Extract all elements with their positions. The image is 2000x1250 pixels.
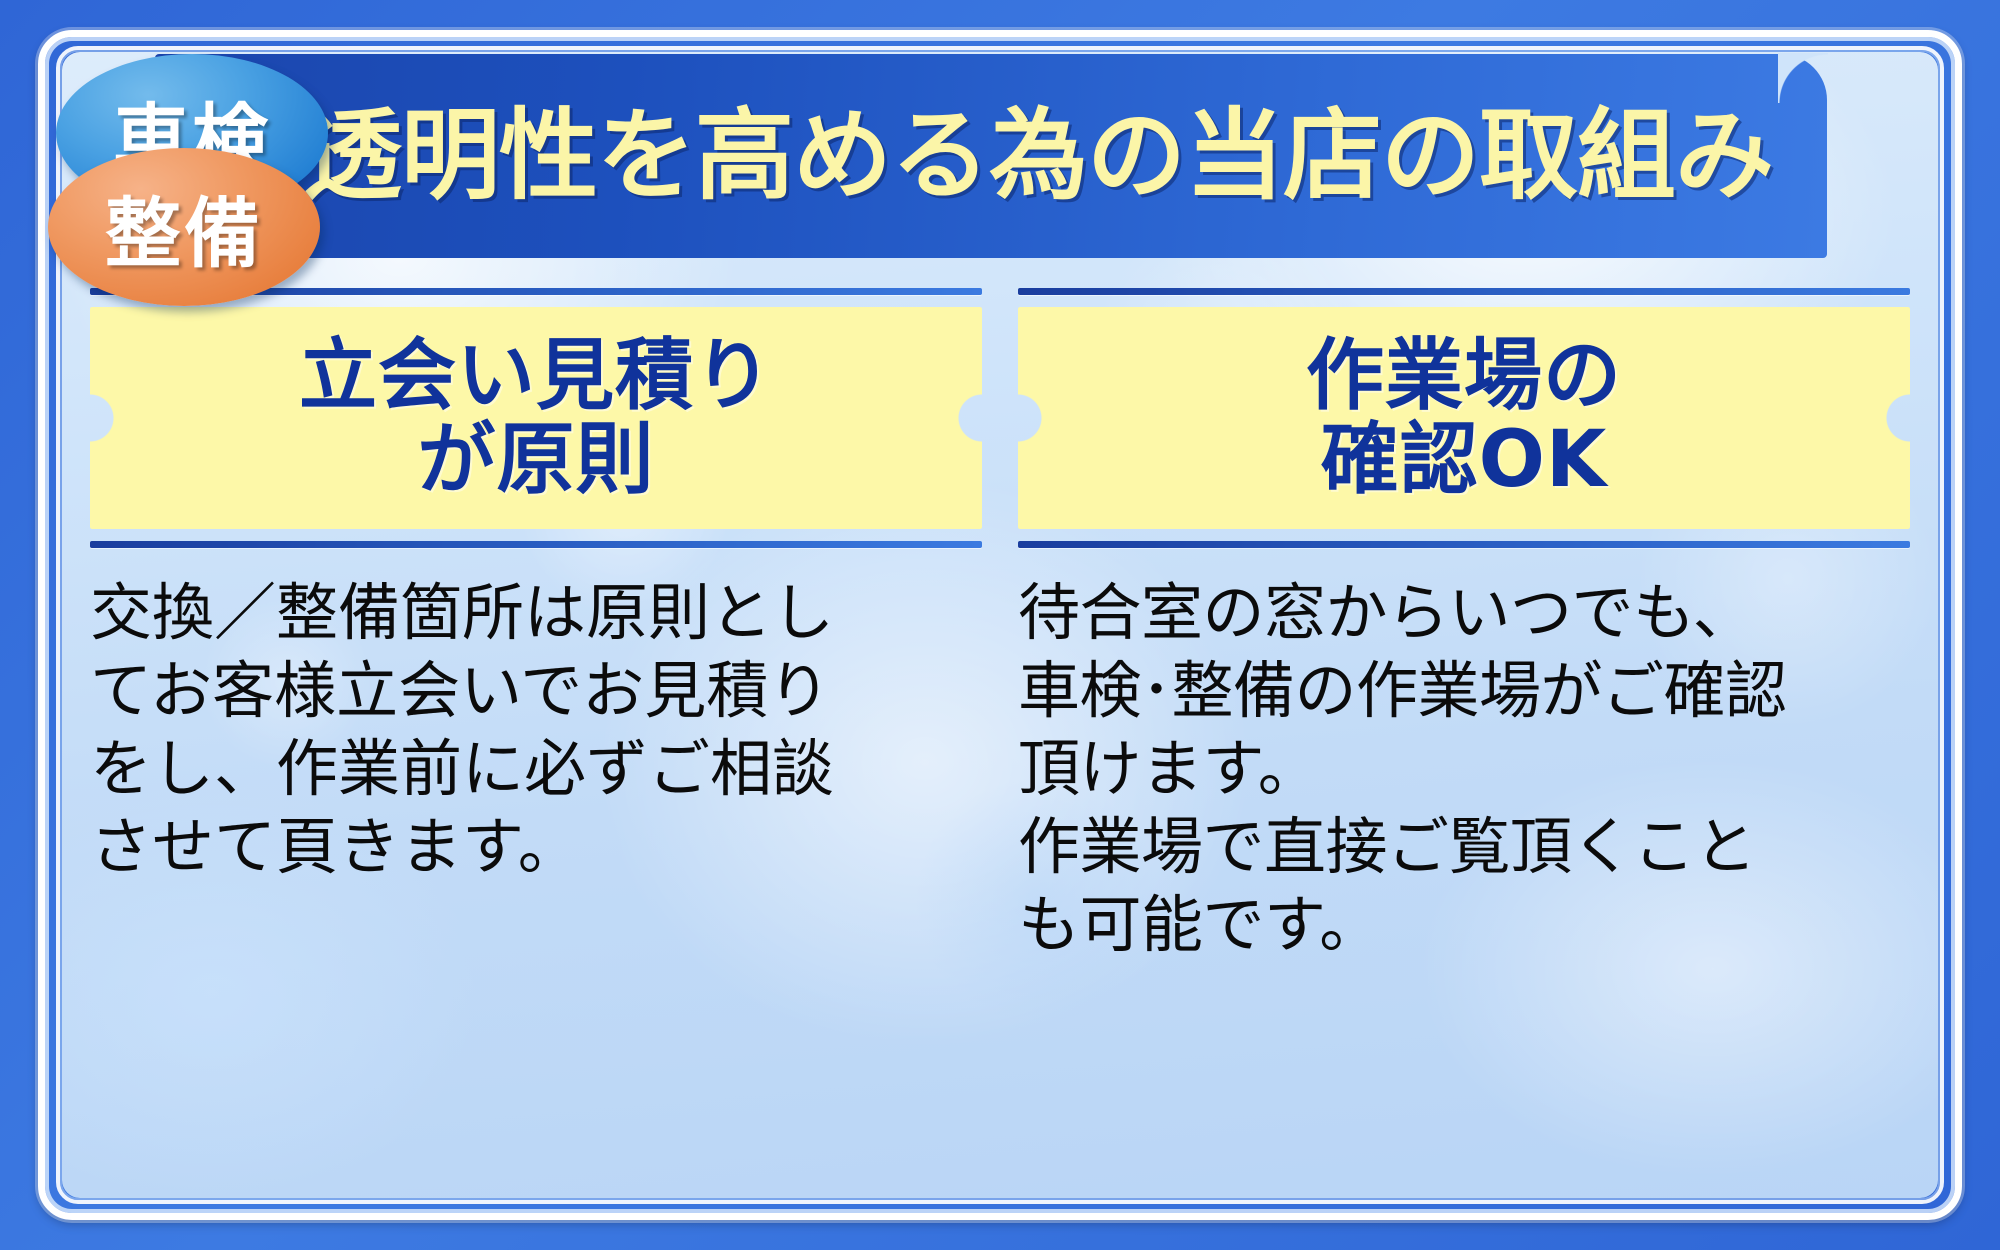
divider-rule-bottom-right (1018, 541, 1910, 548)
badge-seibi: 整備 (48, 148, 320, 306)
poster-root: 透明性を高める為の当店の取組み 車検 整備 立会い見積り が原則 交換／整備箇所… (0, 0, 2000, 1250)
ticket-left-heading: 立会い見積り が原則 (299, 334, 773, 502)
banner-corner-notch (1778, 53, 1828, 103)
column-left: 立会い見積り が原則 交換／整備箇所は原則とし てお客様立会いでお見積り をし、… (62, 288, 1000, 1198)
divider-rule-bottom-left (90, 541, 982, 548)
header-banner: 透明性を高める為の当店の取組み (155, 54, 1827, 258)
body-text-left: 交換／整備箇所は原則とし てお客様立会いでお見積り をし、作業前に必ずご相談 さ… (90, 574, 982, 886)
content-columns: 立会い見積り が原則 交換／整備箇所は原則とし てお客様立会いでお見積り をし、… (62, 288, 1938, 1198)
ticket-right: 作業場の 確認OK (1018, 307, 1910, 529)
ticket-right-heading: 作業場の 確認OK (1306, 334, 1622, 502)
badge-seibi-label: 整備 (105, 172, 263, 282)
page-title: 透明性を高める為の当店の取組み (275, 106, 1801, 207)
body-text-right: 待合室の窓からいつでも、 車検･整備の作業場がご確認 頂けます。 作業場で直接ご… (1018, 574, 1910, 965)
column-right: 作業場の 確認OK 待合室の窓からいつでも、 車検･整備の作業場がご確認 頂けま… (1000, 288, 1938, 1198)
divider-rule-top-right (1018, 288, 1910, 295)
ticket-left: 立会い見積り が原則 (90, 307, 982, 529)
badge-group: 車検 整備 (48, 54, 338, 284)
